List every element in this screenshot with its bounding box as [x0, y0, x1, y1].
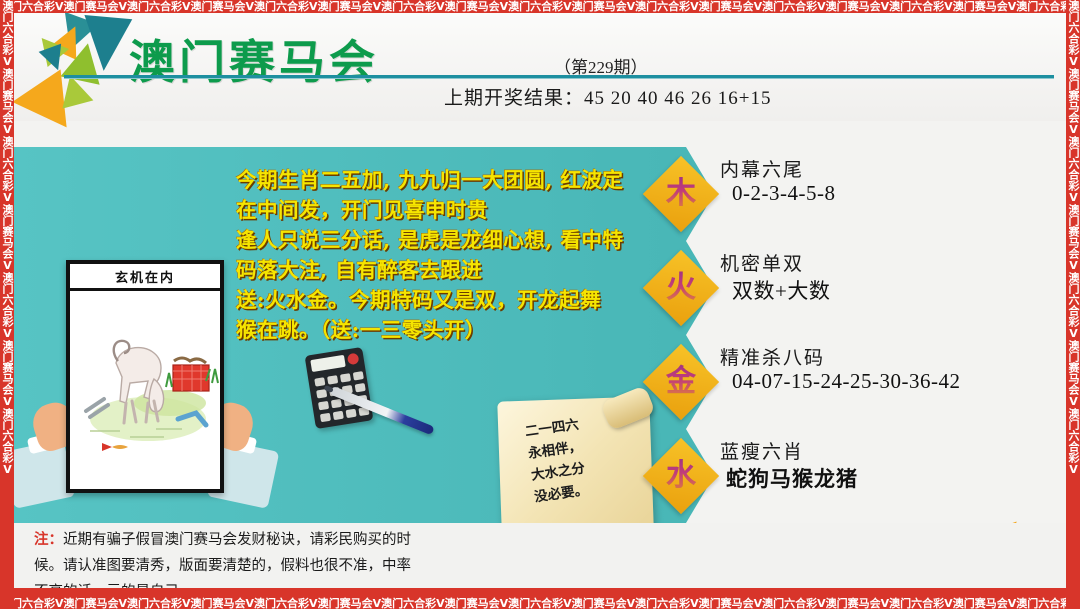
calculator-key [333, 411, 344, 420]
header-rule-light [64, 78, 1054, 79]
footer-note: 注：近期有骗子假冒澳门赛马会发财秘诀，请彩民购买的时 候。请认准图要清秀，版面要… [34, 527, 654, 588]
marquee-top: 澳门六合彩V澳门赛马会V澳门六合彩V澳门赛马会V澳门六合彩V澳门赛马会V澳门六合… [0, 0, 1080, 13]
tip-title-water: 蓝瘦六肖 [720, 437, 804, 464]
calculator-screen [310, 355, 345, 372]
footer-note-line-2: 候。请认准图要清秀，版面要清楚的，假料也很不准，中率 [34, 553, 654, 579]
calculator-key [353, 371, 364, 380]
badge-fire-label: 火 [654, 261, 708, 315]
tip-title-fire: 机密单双 [720, 249, 804, 276]
calculator-key [327, 375, 338, 384]
element-row-water: 水 蓝瘦六肖 蛇狗马猴龙猪 [654, 435, 1054, 527]
footer-note-box: 注：近期有骗子假冒澳门赛马会发财秘诀，请彩民购买的时 候。请认准图要清秀，版面要… [14, 523, 1066, 588]
poster-root: 澳门六合彩V澳门赛马会V澳门六合彩V澳门赛马会V澳门六合彩V澳门赛马会V澳门六合… [0, 0, 1080, 609]
poem-line-5: 送:火水金。今期特码又是双，开龙起舞 [236, 285, 656, 315]
footer-note-prefix: 注： [34, 532, 63, 548]
marquee-bottom: 澳门六合彩V澳门赛马会V澳门六合彩V澳门赛马会V澳门六合彩V澳门赛马会V澳门六合… [0, 588, 1080, 609]
goat-illustration-svg [70, 291, 220, 485]
calculator-key [320, 413, 331, 422]
badge-wood-label: 木 [654, 167, 708, 221]
badge-metal-label: 金 [654, 355, 708, 409]
badge-fire: 火 [643, 250, 719, 326]
marquee-left: 澳门六合彩V澳门赛马会V澳门六合彩V澳门赛马会V澳门六合彩V澳门赛马会V澳门六合… [0, 0, 14, 609]
calculator-key [340, 373, 351, 382]
marquee-left-text: 澳门六合彩V澳门赛马会V澳门六合彩V澳门赛马会V澳门六合彩V澳门赛马会V澳门六合… [1, 0, 14, 476]
element-row-fire: 火 机密单双 双数+大数 [654, 247, 1054, 339]
calculator-power-key [347, 353, 360, 366]
badge-wood: 木 [643, 156, 719, 232]
footer-note-text-1: 近期有骗子假冒澳门赛马会发财秘诀，请彩民购买的时 [63, 532, 411, 548]
deco-triangle-teal-3 [80, 15, 133, 73]
badge-metal: 金 [643, 344, 719, 420]
marquee-right: 澳门六合彩V澳门赛马会V澳门六合彩V澳门赛马会V澳门六合彩V澳门赛马会V澳门六合… [1066, 0, 1080, 609]
element-row-metal: 金 精准杀八码 04-07-15-24-25-30-36-42 [654, 341, 1054, 433]
poem-block: 今期生肖二五加, 九九归一大团圆, 红波定 在中间发，开门见喜申时贵 逢人只说三… [236, 165, 656, 345]
tip-value-fire: 双数+大数 [732, 275, 830, 305]
poem-line-3: 逢人只说三分话, 是虎是龙细心想, 看中特 [236, 225, 656, 255]
header: 澳门赛马会 （第229期） 上期开奖结果：45 20 40 46 26 16+1… [14, 13, 1066, 121]
calculator-key [355, 383, 366, 392]
badge-water: 水 [643, 438, 719, 514]
calculator-key [346, 409, 357, 418]
calculator-key [331, 399, 342, 408]
footer-note-line-1: 注：近期有骗子假冒澳门赛马会发财秘诀，请彩民购买的时 [34, 527, 654, 553]
issue-number: （第229期） [554, 53, 648, 78]
picture-title-text: 玄机在内 [115, 267, 175, 286]
tip-title-wood: 内幕六尾 [720, 155, 804, 182]
poem-line-1: 今期生肖二五加, 九九归一大团圆, 红波定 [236, 165, 656, 195]
poster-frame: 澳门赛马会 （第229期） 上期开奖结果：45 20 40 46 26 16+1… [14, 13, 1066, 588]
tip-value-water: 蛇狗马猴龙猪 [726, 463, 858, 493]
poem-line-6: 猴在跳。（送:一三零头开） [236, 315, 656, 345]
poem-line-4: 码落大注, 自有醉客去跟进 [236, 255, 656, 285]
calculator-key [314, 377, 325, 386]
page-title: 澳门赛马会 [129, 26, 379, 92]
picture-title: 玄机在内 [70, 264, 220, 291]
marquee-top-text: 澳门六合彩V澳门赛马会V澳门六合彩V澳门赛马会V澳门六合彩V澳门赛马会V澳门六合… [0, 0, 1080, 13]
marquee-right-text: 澳门六合彩V澳门赛马会V澳门六合彩V澳门赛马会V澳门六合彩V澳门赛马会V澳门六合… [1067, 0, 1080, 476]
calculator-key [318, 401, 329, 410]
last-draw-result: 上期开奖结果：45 20 40 46 26 16+15 [444, 83, 771, 110]
marquee-bottom-text: 澳门六合彩V澳门赛马会V澳门六合彩V澳门赛马会V澳门六合彩V澳门赛马会V澳门六合… [0, 588, 1080, 609]
tip-title-metal: 精准杀八码 [720, 343, 825, 370]
last-draw-numbers: 45 20 40 46 26 16+15 [584, 88, 771, 109]
footer-note-line-3: 不高的话，亏的是自己 [34, 579, 654, 588]
mystery-picture-frame[interactable]: 玄机在内 [66, 260, 224, 493]
element-row-wood: 木 内幕六尾 0-2-3-4-5-8 [654, 153, 1054, 245]
last-draw-label: 上期开奖结果： [444, 88, 584, 109]
tip-value-wood: 0-2-3-4-5-8 [732, 181, 835, 206]
picture-artwork [70, 291, 220, 485]
badge-water-label: 水 [654, 449, 708, 503]
poem-line-2: 在中间发，开门见喜申时贵 [236, 195, 656, 225]
tip-value-metal: 04-07-15-24-25-30-36-42 [732, 369, 960, 394]
